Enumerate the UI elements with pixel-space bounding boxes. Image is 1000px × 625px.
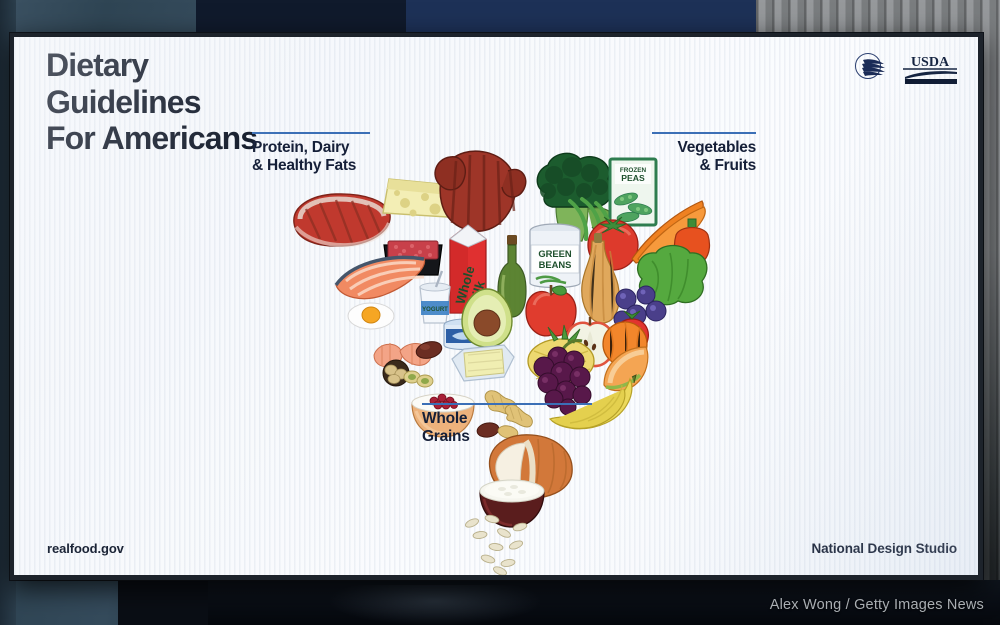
- presentation-display: FROZEN PEAS: [10, 33, 983, 580]
- website-url: realfood.gov: [47, 541, 124, 556]
- category-label-protein: Protein, Dairy & Healthy Fats: [252, 139, 372, 174]
- category-label-grains: Whole Grains: [422, 410, 592, 445]
- usda-logo: USDA: [901, 53, 959, 85]
- green-beans-line2: BEANS: [539, 259, 572, 270]
- slide-screen: FROZEN PEAS: [14, 37, 978, 575]
- food-cheese-block: [446, 341, 518, 385]
- green-beans-line1: GREEN: [538, 248, 572, 259]
- title-line-1: Dietary: [46, 47, 257, 84]
- grains-label-line-2: Grains: [422, 428, 592, 446]
- protein-label-line-1: Protein, Dairy: [252, 139, 372, 157]
- title-line-3: For Americans: [46, 120, 257, 157]
- yogurt-label: YOGURT: [422, 307, 448, 313]
- grains-label-line-1: Whole: [422, 410, 592, 428]
- protein-label-line-2: & Healthy Fats: [252, 157, 372, 175]
- frozen-peas-line2: PEAS: [621, 173, 645, 183]
- food-oat-flakes: [458, 515, 554, 573]
- food-dates: [414, 339, 444, 361]
- category-protein: Protein, Dairy & Healthy Fats: [252, 132, 372, 174]
- vegetables-label-line-1: Vegetables: [652, 139, 756, 157]
- vegetables-label-line-2: & Fruits: [652, 157, 756, 175]
- category-vegetables: Vegetables & Fruits: [652, 132, 756, 174]
- category-rule-grains: [422, 403, 592, 405]
- category-grains: Whole Grains: [422, 403, 592, 445]
- floor-glow: [330, 585, 540, 625]
- category-rule-protein: [252, 132, 370, 134]
- food-steak: [286, 189, 394, 251]
- food-avocado: [456, 287, 518, 349]
- design-attribution: National Design Studio: [811, 541, 957, 556]
- agency-logos: USDA: [854, 51, 959, 86]
- category-label-vegetables: Vegetables & Fruits: [652, 139, 756, 174]
- food-egg: [346, 299, 396, 331]
- title-line-2: Guidelines: [46, 84, 257, 121]
- category-rule-vegetables: [652, 132, 756, 134]
- wall-navy-band: [196, 0, 406, 34]
- photo-credit: Alex Wong / Getty Images News: [770, 597, 984, 613]
- floor-dark-strip-left: [118, 580, 208, 625]
- page-title: Dietary Guidelines For Americans: [46, 47, 257, 157]
- wall-navy-block: [406, 0, 756, 34]
- usda-wordmark: USDA: [911, 55, 950, 70]
- hhs-logo: [854, 51, 888, 86]
